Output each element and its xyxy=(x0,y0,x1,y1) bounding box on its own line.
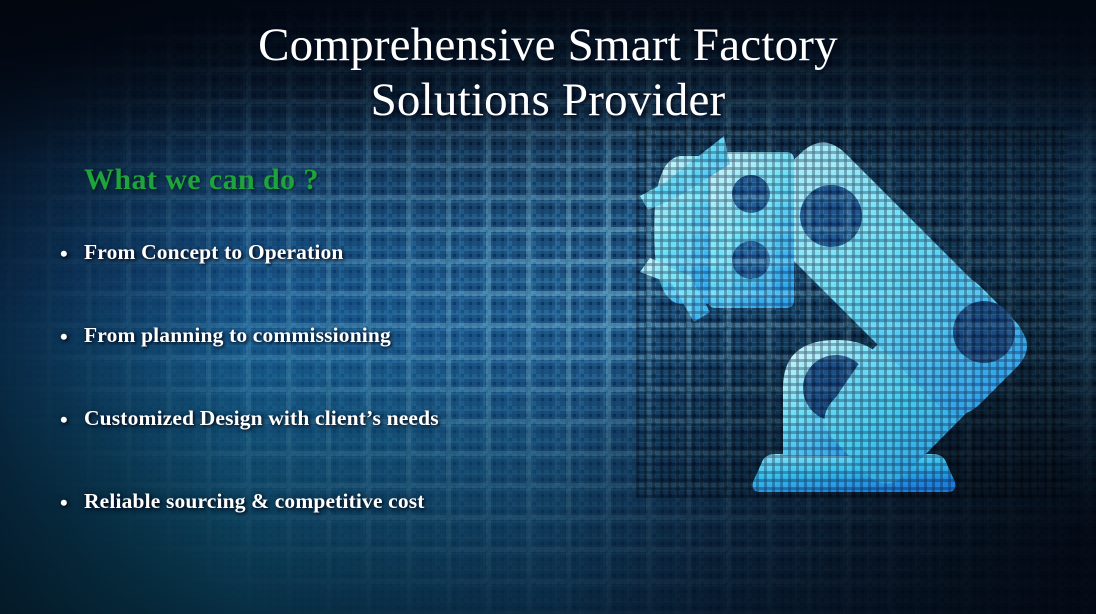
slide-title-line-2: Solutions Provider xyxy=(0,73,1096,128)
presentation-slide: Comprehensive Smart Factory Solutions Pr… xyxy=(0,0,1096,614)
robotic-arm-icon xyxy=(636,126,1068,498)
bullet-item-label: Reliable sourcing & competitive cost xyxy=(84,489,425,514)
bullet-item: • From Concept to Operation xyxy=(60,240,620,323)
bullet-marker-icon: • xyxy=(60,492,68,514)
bullet-item: • Reliable sourcing & competitive cost xyxy=(60,489,620,572)
bullet-item-label: Customized Design with client’s needs xyxy=(84,406,439,431)
bullet-marker-icon: • xyxy=(60,409,68,431)
bullet-item-label: From Concept to Operation xyxy=(84,240,344,265)
bullet-list: • From Concept to Operation • From plann… xyxy=(60,240,620,572)
bullet-marker-icon: • xyxy=(60,243,68,265)
bullet-marker-icon: • xyxy=(60,326,68,348)
slide-title: Comprehensive Smart Factory Solutions Pr… xyxy=(0,18,1096,128)
bullet-item-label: From planning to commissioning xyxy=(84,323,391,348)
slide-title-line-1: Comprehensive Smart Factory xyxy=(258,19,838,71)
bullet-item: • From planning to commissioning xyxy=(60,323,620,406)
bullet-item: • Customized Design with client’s needs xyxy=(60,406,620,489)
slide-subheading: What we can do ? xyxy=(84,163,319,197)
